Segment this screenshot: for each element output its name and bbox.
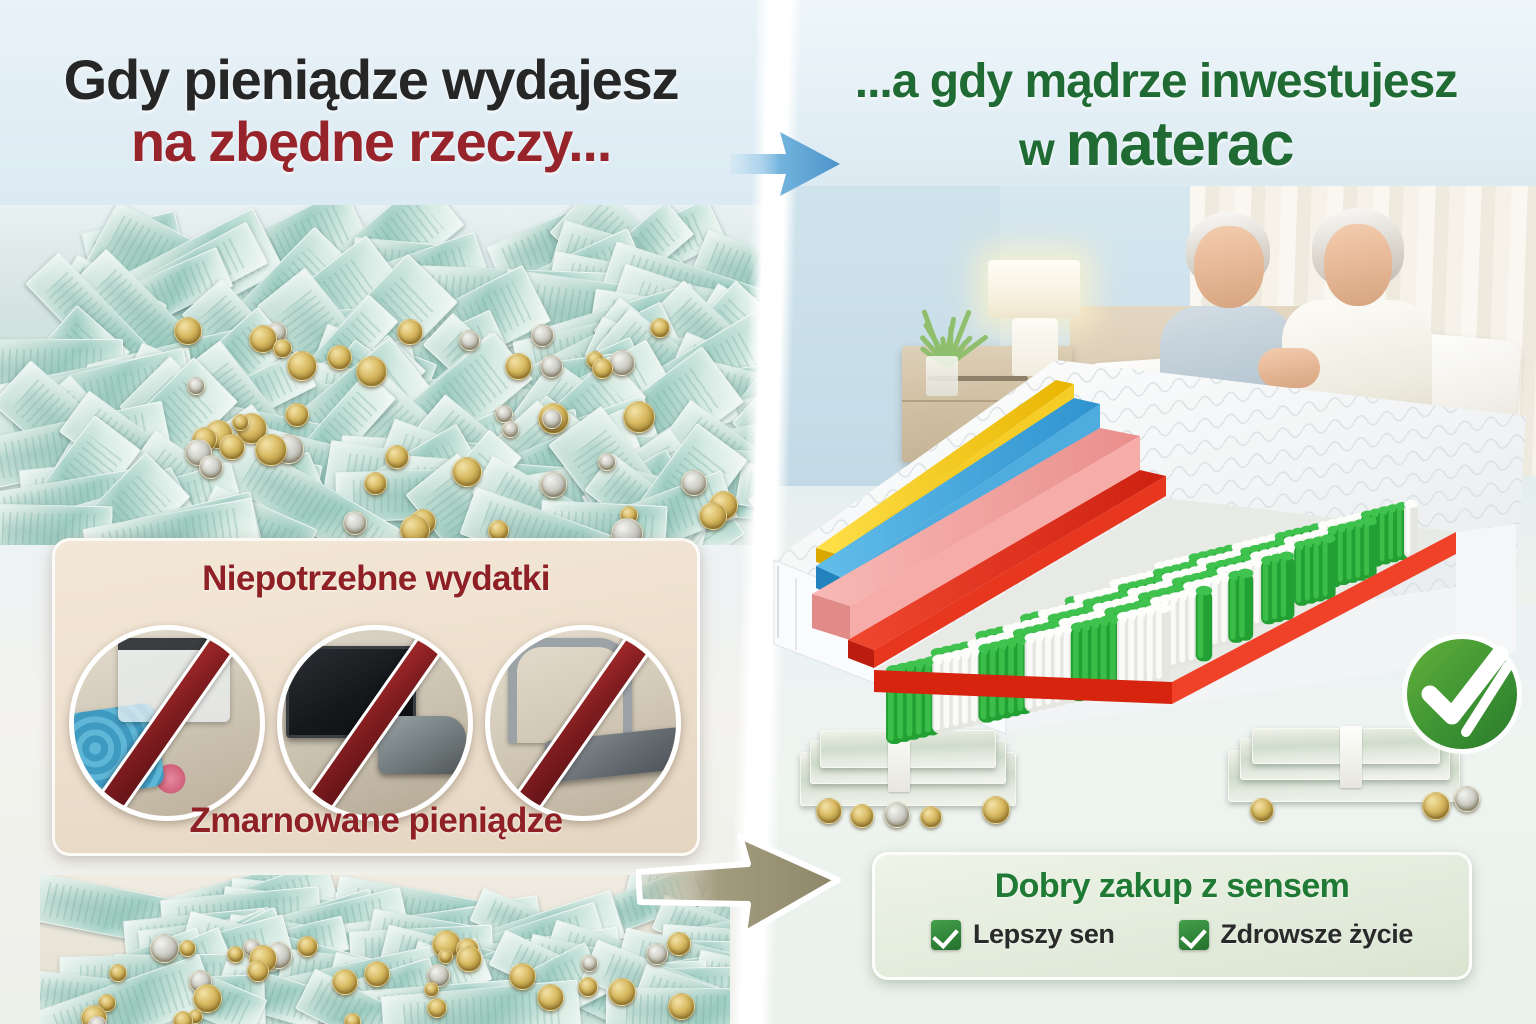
benefit-label: Lepszy sen <box>973 919 1115 950</box>
headline-left-line1: Gdy pieniądze wydajesz <box>0 52 742 108</box>
headline-right-emphasis: materac <box>1066 110 1293 179</box>
checkbox-checked-icon <box>931 920 961 950</box>
arrow-right-icon <box>636 822 842 948</box>
headline-right-line2: w materac <box>786 114 1526 176</box>
benefit-item: Zdrowsze życie <box>1179 919 1413 950</box>
card-subtitle-wasted-money: Zmarnowane pieniądze <box>55 801 697 841</box>
good-purchase-card: Dobry zakup z sensem Lepszy sen Zdrowsze… <box>872 852 1472 980</box>
wasted-spending-card: Niepotrzebne wydatki Zmarnowane pieniądz… <box>52 538 700 856</box>
headline-right-line1: ...a gdy mądrze inwestujesz <box>786 58 1526 106</box>
headline-right: ...a gdy mądrze inwestujesz w materac <box>786 58 1526 176</box>
checkbox-checked-icon <box>1179 920 1209 950</box>
benefits-list: Lepszy sen Zdrowsze życie <box>875 919 1469 950</box>
check-circle-icon <box>1396 628 1528 760</box>
headline-right-prefix: w <box>1019 123 1066 175</box>
crossed-item-fitness <box>69 625 265 821</box>
card-title-unnecessary-expenses: Niepotrzebne wydatki <box>55 559 697 599</box>
infographic-canvas: Niepotrzebne wydatki Zmarnowane pieniądz… <box>0 0 1536 1024</box>
table-lamp-shade <box>988 260 1080 318</box>
benefit-item: Lepszy sen <box>931 919 1115 950</box>
wasted-money-photo <box>40 875 730 1024</box>
benefit-label: Zdrowsze życie <box>1221 919 1413 950</box>
money-pile-photo <box>0 205 764 545</box>
crossed-item-treadmill <box>485 625 681 821</box>
headline-left-line2: na zbędne rzeczy... <box>0 114 742 170</box>
crossed-item-electronics <box>277 625 473 821</box>
arrow-right-icon <box>730 122 842 206</box>
headline-left: Gdy pieniądze wydajesz na zbędne rzeczy.… <box>0 52 742 170</box>
card-title-good-purchase: Dobry zakup z sensem <box>875 867 1469 906</box>
